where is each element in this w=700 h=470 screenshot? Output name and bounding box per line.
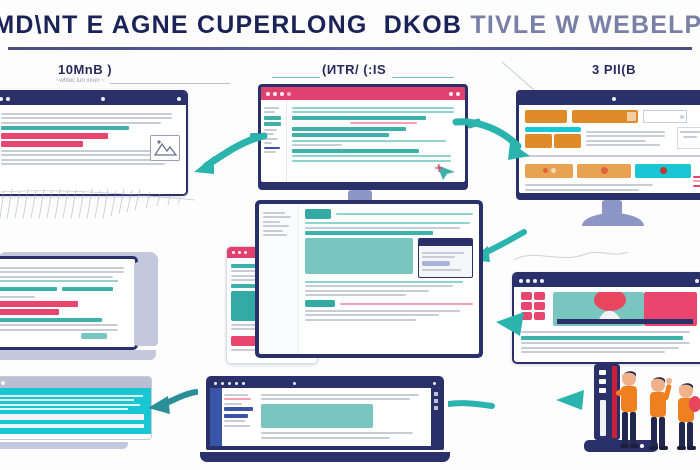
mid-left-laptop[interactable] <box>0 252 160 368</box>
content-line-accent <box>292 149 419 153</box>
content-line <box>586 135 665 137</box>
footer-chip[interactable] <box>305 300 335 307</box>
rail-dot-icon <box>434 392 438 396</box>
sidebar-line-active <box>264 116 281 120</box>
content-line <box>292 140 446 142</box>
person-2-figure <box>644 376 672 450</box>
content-line <box>0 399 134 401</box>
sidebar-line <box>264 107 279 109</box>
sidebar-line-active <box>224 414 248 418</box>
banner-caption-bar <box>557 319 693 324</box>
hero-block[interactable] <box>261 404 373 428</box>
mountain-photo-icon <box>151 136 179 160</box>
person-1 <box>616 370 642 448</box>
content-line <box>305 285 453 287</box>
content-line <box>586 140 646 142</box>
content-line <box>0 267 124 269</box>
tag-chip[interactable] <box>305 209 331 219</box>
hero-block[interactable] <box>305 238 413 274</box>
window-dot-center-icon <box>293 382 296 385</box>
window-dot-close-icon[interactable] <box>232 251 235 254</box>
mid-right-window-content <box>514 287 700 364</box>
content-line <box>0 395 143 397</box>
window-dot-center-icon <box>612 97 616 101</box>
bottom-left-window-base <box>0 442 128 449</box>
server-panel <box>600 400 606 436</box>
bar-cyan <box>525 127 581 132</box>
sidebar-line <box>224 403 242 405</box>
content-line <box>586 131 665 133</box>
rail-line <box>693 185 700 187</box>
bottom-left-window-content <box>0 388 151 434</box>
content-line <box>0 424 144 428</box>
bottom-center-laptop-titlebar[interactable] <box>210 380 440 386</box>
thumb-cell <box>534 292 545 300</box>
content-line <box>292 160 451 162</box>
button-accent[interactable] <box>81 333 107 339</box>
content-line <box>292 107 454 109</box>
window-dot-extra2-icon <box>242 382 245 385</box>
card-orange[interactable] <box>525 110 567 123</box>
mid-center-main <box>299 204 479 354</box>
content-line-accent <box>292 116 426 120</box>
card-dot-icon <box>680 115 684 119</box>
content-line <box>292 144 342 146</box>
sidebar-line <box>264 151 276 153</box>
window-dot-min-icon[interactable] <box>238 251 241 254</box>
sketch-stroke-midright <box>512 246 632 268</box>
window-dot-extra-icon <box>540 279 544 283</box>
content-line-accent <box>0 318 102 322</box>
content-line <box>1 113 172 115</box>
title-divider <box>8 47 692 50</box>
content-line <box>261 398 410 400</box>
inset-panel-body <box>419 246 472 277</box>
content-line-accent <box>1 126 129 130</box>
content-line <box>305 314 439 316</box>
thumb-cell <box>521 302 532 310</box>
sketch-hatching-left <box>0 186 200 222</box>
tile-pair <box>525 134 581 148</box>
content-line <box>1 154 168 156</box>
caption-center: (ИTR/ (:IS <box>322 62 386 77</box>
content-line <box>336 213 473 215</box>
mid-left-laptop-screen <box>0 259 135 347</box>
cursor-pointer-icon <box>433 163 461 181</box>
image-placeholder[interactable] <box>150 135 180 161</box>
laptop-base-bottom <box>0 350 156 360</box>
content-line <box>1 159 158 161</box>
content-line-highlight <box>0 301 78 307</box>
mid-left-laptop-bezel <box>0 256 138 350</box>
window-dot-max-icon[interactable] <box>533 279 537 283</box>
mid-right-window[interactable] <box>512 272 700 364</box>
card-aside <box>677 127 700 149</box>
title-segment-b: DKOB <box>384 11 462 39</box>
rail-dot-icon <box>434 406 438 410</box>
thumb-cell <box>534 312 545 320</box>
rail-dot-icon <box>434 399 438 403</box>
sidebar-line <box>224 420 245 422</box>
content-line <box>521 331 690 333</box>
content-line <box>0 276 113 278</box>
tile-orange[interactable] <box>525 134 552 148</box>
thumb-cell <box>521 292 532 300</box>
mid-center-large-bezel <box>255 200 483 358</box>
content-line <box>521 351 665 353</box>
content-line-highlight <box>1 141 83 147</box>
content-line <box>305 294 406 296</box>
dot-icon <box>551 168 556 173</box>
mid-center-sidebar[interactable] <box>259 204 299 354</box>
bottom-center-laptop-bezel <box>206 376 444 450</box>
mid-center-large-screen <box>259 204 479 354</box>
tile-media[interactable] <box>577 164 631 178</box>
sidebar-line-active <box>264 122 281 126</box>
content-line <box>0 324 118 326</box>
sidebar-line <box>263 225 289 227</box>
content-line <box>305 290 429 292</box>
content-line <box>0 404 140 406</box>
content-line <box>292 111 454 113</box>
content-line-accent <box>62 287 113 291</box>
laptop-sidebar[interactable] <box>222 388 256 446</box>
top-right-screen-body <box>519 105 700 193</box>
caption-left-sub: ~whtec lun x#un ~ <box>56 78 105 84</box>
window-dot-max-icon[interactable] <box>280 92 284 96</box>
top-center-monitor-screen <box>261 87 465 182</box>
title-segment-a: M MD\NT E AGNE CUPERLONG <box>0 11 367 39</box>
card-row-3 <box>525 164 700 178</box>
window-dot-max-icon[interactable] <box>228 382 231 385</box>
content-line-highlight <box>1 133 108 139</box>
person-1-figure <box>616 370 642 448</box>
window-dot-min-icon[interactable] <box>6 97 10 101</box>
top-center-main <box>287 100 465 182</box>
content-line <box>586 144 660 146</box>
top-center-titlebar[interactable] <box>261 87 465 100</box>
top-center-sidebar[interactable] <box>261 100 287 182</box>
top-center-monitor[interactable] <box>258 84 468 206</box>
rail-line <box>693 176 700 178</box>
bottom-left-window-frame <box>0 376 152 440</box>
window-dot-max-icon[interactable] <box>244 251 247 254</box>
window-dot-menu-icon[interactable] <box>433 382 436 385</box>
content-line <box>0 408 128 410</box>
content-line <box>305 319 416 321</box>
content-line <box>0 329 118 331</box>
hero-row <box>305 238 473 278</box>
content-line <box>0 280 118 282</box>
dot-icon <box>543 168 548 173</box>
footer-row <box>305 300 473 307</box>
sidebar-line <box>224 394 248 396</box>
bottom-right-team <box>582 362 700 468</box>
inset-block <box>422 261 450 266</box>
top-right-monitor-bezel <box>516 90 700 200</box>
server-slot <box>599 370 606 375</box>
card-outline[interactable] <box>643 110 687 123</box>
thumb-cell <box>534 302 545 310</box>
content-line <box>1 122 161 124</box>
content-field[interactable] <box>0 414 144 420</box>
window-dot-menu-icon[interactable] <box>177 97 181 101</box>
sidebar-line <box>224 398 251 400</box>
window-dot-close2-icon[interactable] <box>456 92 460 96</box>
content-line <box>305 310 460 312</box>
sidebar-line <box>263 212 285 214</box>
inset-panel[interactable] <box>418 238 473 278</box>
content-line-highlight <box>350 122 417 124</box>
laptop-sidebar-rail[interactable] <box>210 388 222 446</box>
content-line-highlight <box>340 303 473 305</box>
person-3-figure <box>674 382 700 450</box>
caption-right: 3 PIl(B <box>592 62 636 77</box>
card-group-text <box>586 127 672 149</box>
laptop-right-rail[interactable] <box>431 388 440 446</box>
sidebar-line <box>264 129 277 131</box>
content-line <box>422 256 455 258</box>
sidebar-line <box>264 138 278 140</box>
mid-center-large[interactable] <box>255 200 483 360</box>
card-row-1 <box>525 110 700 123</box>
window-dot-min-icon[interactable] <box>221 382 224 385</box>
top-left-window-content <box>0 105 186 196</box>
top-right-monitor-screen <box>519 93 700 193</box>
content-line <box>521 347 679 349</box>
banner-media[interactable] <box>553 292 697 326</box>
tile-media-cyan[interactable] <box>635 164 691 178</box>
divider-line <box>525 155 700 157</box>
sidebar-line <box>263 230 283 232</box>
window-dot-center-icon <box>101 97 105 101</box>
thumb-cell <box>521 312 532 320</box>
arrow-laptop-to-team <box>448 392 502 420</box>
content-line-accent <box>305 231 433 235</box>
header-row <box>305 209 473 219</box>
dot-icon <box>601 167 608 174</box>
window-dot-menu-icon[interactable] <box>695 279 699 283</box>
bottom-center-laptop-base <box>200 452 450 462</box>
grid-thumbnails[interactable] <box>521 292 545 320</box>
inset-panel-titlebar <box>419 239 472 246</box>
tile-orange[interactable] <box>554 134 581 148</box>
window-dot-extra-icon <box>287 92 291 96</box>
tile-media[interactable] <box>525 164 573 178</box>
title-segment-c: TIVLE W WEBELPEL <box>470 11 700 39</box>
content-line <box>521 342 690 344</box>
top-left-window[interactable] <box>0 90 188 196</box>
top-left-window-titlebar[interactable] <box>0 92 186 105</box>
sidebar-line <box>263 216 291 218</box>
content-line <box>305 222 470 224</box>
caption-left-underline <box>110 83 230 84</box>
sidebar-line <box>263 234 287 236</box>
laptop-main <box>256 388 431 446</box>
card-group-left <box>525 127 581 149</box>
dot-icon <box>660 167 667 174</box>
content-line <box>525 189 639 191</box>
content-line <box>0 271 124 273</box>
bottom-center-laptop-screen <box>210 388 440 446</box>
person-2 <box>644 376 672 450</box>
content-line <box>525 184 653 186</box>
content-line <box>0 296 35 298</box>
content-line <box>683 136 697 138</box>
top-right-monitor[interactable] <box>516 90 700 218</box>
caption-center-underline-left <box>272 77 320 78</box>
sidebar-line <box>264 142 272 144</box>
content-line <box>422 269 461 271</box>
server-slot <box>599 388 606 393</box>
content-line <box>1 163 165 165</box>
window-dot-extra-icon <box>235 382 238 385</box>
decor-chip-left <box>250 133 259 139</box>
diagram-canvas: M MD\NT E AGNE CUPERLONG DKOB TIVLE W WE… <box>0 0 700 470</box>
window-dot-min-icon[interactable] <box>1 381 5 385</box>
server-slot <box>599 379 606 384</box>
monitor-stand-base <box>582 213 644 226</box>
content-line <box>680 131 699 133</box>
sidebar-line <box>264 133 274 135</box>
card-thumb <box>627 112 636 121</box>
top-right-titlebar[interactable] <box>519 93 700 105</box>
content-line <box>261 394 419 396</box>
content-line <box>292 155 451 157</box>
caption-left: 10MnB ) <box>58 62 112 77</box>
card-row-4 <box>525 182 700 194</box>
sidebar-line <box>224 425 250 427</box>
hero-row <box>521 292 697 326</box>
chip-row <box>0 285 129 294</box>
top-center-monitor-bezel <box>258 84 468 190</box>
content-line <box>422 252 464 254</box>
mid-right-window-titlebar[interactable] <box>514 274 700 287</box>
content-line <box>261 437 390 439</box>
content-line <box>1 150 168 152</box>
caption-center-underline-right <box>392 77 454 78</box>
bottom-left-window-titlebar[interactable] <box>0 377 151 388</box>
sidebar-line <box>264 147 280 149</box>
top-center-screen-body <box>261 100 465 182</box>
window-dot-menu-icon[interactable] <box>449 92 453 96</box>
window-dot-min-icon[interactable] <box>526 279 530 283</box>
person-3 <box>674 382 700 450</box>
page-title-text: M MD\NT E AGNE CUPERLONG DKOB TIVLE W WE… <box>0 11 700 40</box>
sidebar-line <box>263 221 280 223</box>
rail-line <box>693 180 700 182</box>
window-dot-close-icon[interactable] <box>519 279 523 283</box>
window-dot-close-icon[interactable] <box>266 92 270 96</box>
content-line-highlight <box>0 309 59 315</box>
content-line-accent <box>0 287 57 291</box>
decor-chip-right <box>466 118 481 129</box>
page-title: M MD\NT E AGNE CUPERLONG DKOB TIVLE W WE… <box>0 8 700 42</box>
bottom-center-laptop[interactable] <box>200 376 450 468</box>
content-line-accent <box>292 133 389 137</box>
card-orange[interactable] <box>572 110 638 123</box>
bottom-left-window[interactable] <box>0 376 152 458</box>
content-line-accent <box>521 336 683 340</box>
content-line <box>305 227 460 229</box>
content-line <box>1 117 172 119</box>
content-line-accent <box>292 127 406 131</box>
laptop-side-panel <box>134 262 158 346</box>
sidebar-line <box>264 111 275 113</box>
right-rail <box>693 173 700 189</box>
window-dot-min-icon[interactable] <box>273 92 277 96</box>
sidebar-line-active <box>224 407 253 411</box>
card-row-2 <box>525 127 700 149</box>
window-dot-close-icon[interactable] <box>214 382 217 385</box>
content-line <box>305 281 463 283</box>
content-line <box>261 432 413 434</box>
window-dot-close-icon[interactable] <box>0 97 3 101</box>
